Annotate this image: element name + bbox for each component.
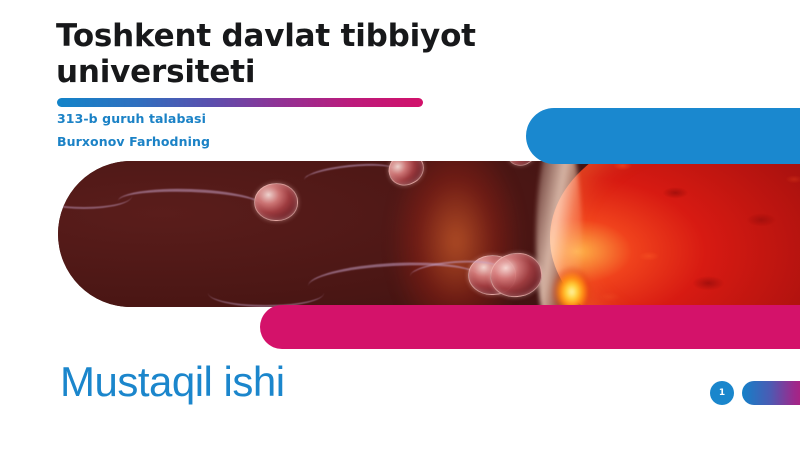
subtitle-author-line: Burxonov Farhodning — [57, 134, 210, 149]
slide-canvas: Toshkent davlat tibbiyot universiteti 31… — [0, 0, 800, 449]
photo-inner — [58, 161, 800, 307]
subtitle-group-line: 313-b guruh talabasi — [57, 111, 206, 126]
sperm-tail — [208, 279, 324, 307]
page-number-badge: 1 — [710, 381, 734, 405]
headline-text: Mustaqil ishi — [60, 358, 285, 406]
sperm-head — [254, 183, 298, 221]
gradient-divider — [57, 98, 423, 107]
magenta-accent-bar — [260, 305, 800, 349]
fertilization-photo — [58, 161, 800, 307]
blue-accent-bar — [526, 108, 800, 164]
fertilization-flare — [550, 265, 614, 307]
page-title: Toshkent davlat tibbiyot universiteti — [56, 18, 496, 91]
page-number-accent-bar — [742, 381, 800, 405]
